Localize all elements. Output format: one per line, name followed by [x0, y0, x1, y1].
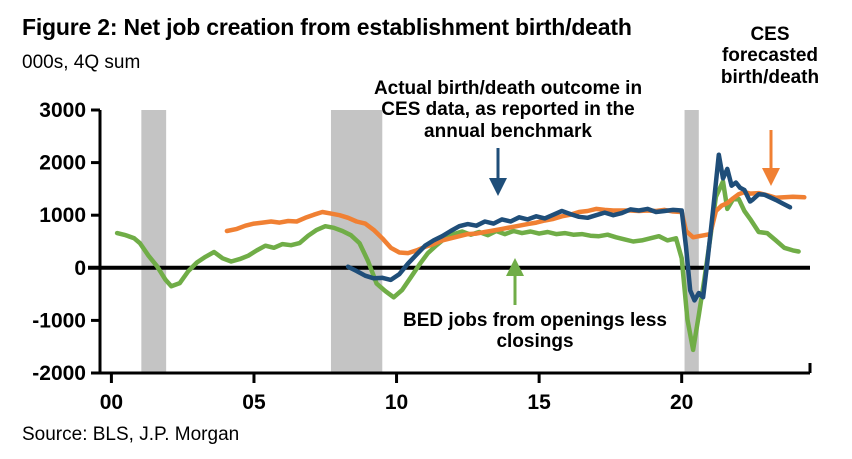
x-tick-label: 00 — [100, 391, 123, 414]
series-line-2 — [348, 155, 790, 301]
annotation-arrow-orange — [762, 130, 780, 186]
series-line-1 — [227, 192, 804, 253]
annotation-arrow-green — [506, 258, 524, 305]
figure-container: Figure 2: Net job creation from establis… — [0, 0, 852, 459]
y-tick-label: 0 — [74, 257, 86, 280]
y-tick-label: 1000 — [39, 204, 86, 227]
x-tick-label: 10 — [385, 391, 408, 414]
x-tick-label: 05 — [242, 391, 266, 414]
y-tick-label: -2000 — [32, 362, 86, 385]
recession-band-1 — [141, 110, 166, 373]
x-tick-label: 15 — [527, 391, 551, 414]
line-chart: 3000200010000-1000-20000005101520 — [0, 0, 852, 459]
annotation-arrow-navy — [489, 148, 507, 196]
y-tick-label: 2000 — [39, 152, 86, 175]
source-note: Source: BLS, J.P. Morgan — [22, 424, 239, 446]
y-tick-label: 3000 — [39, 99, 86, 122]
x-tick-label: 20 — [670, 391, 693, 414]
y-tick-label: -1000 — [32, 309, 86, 332]
